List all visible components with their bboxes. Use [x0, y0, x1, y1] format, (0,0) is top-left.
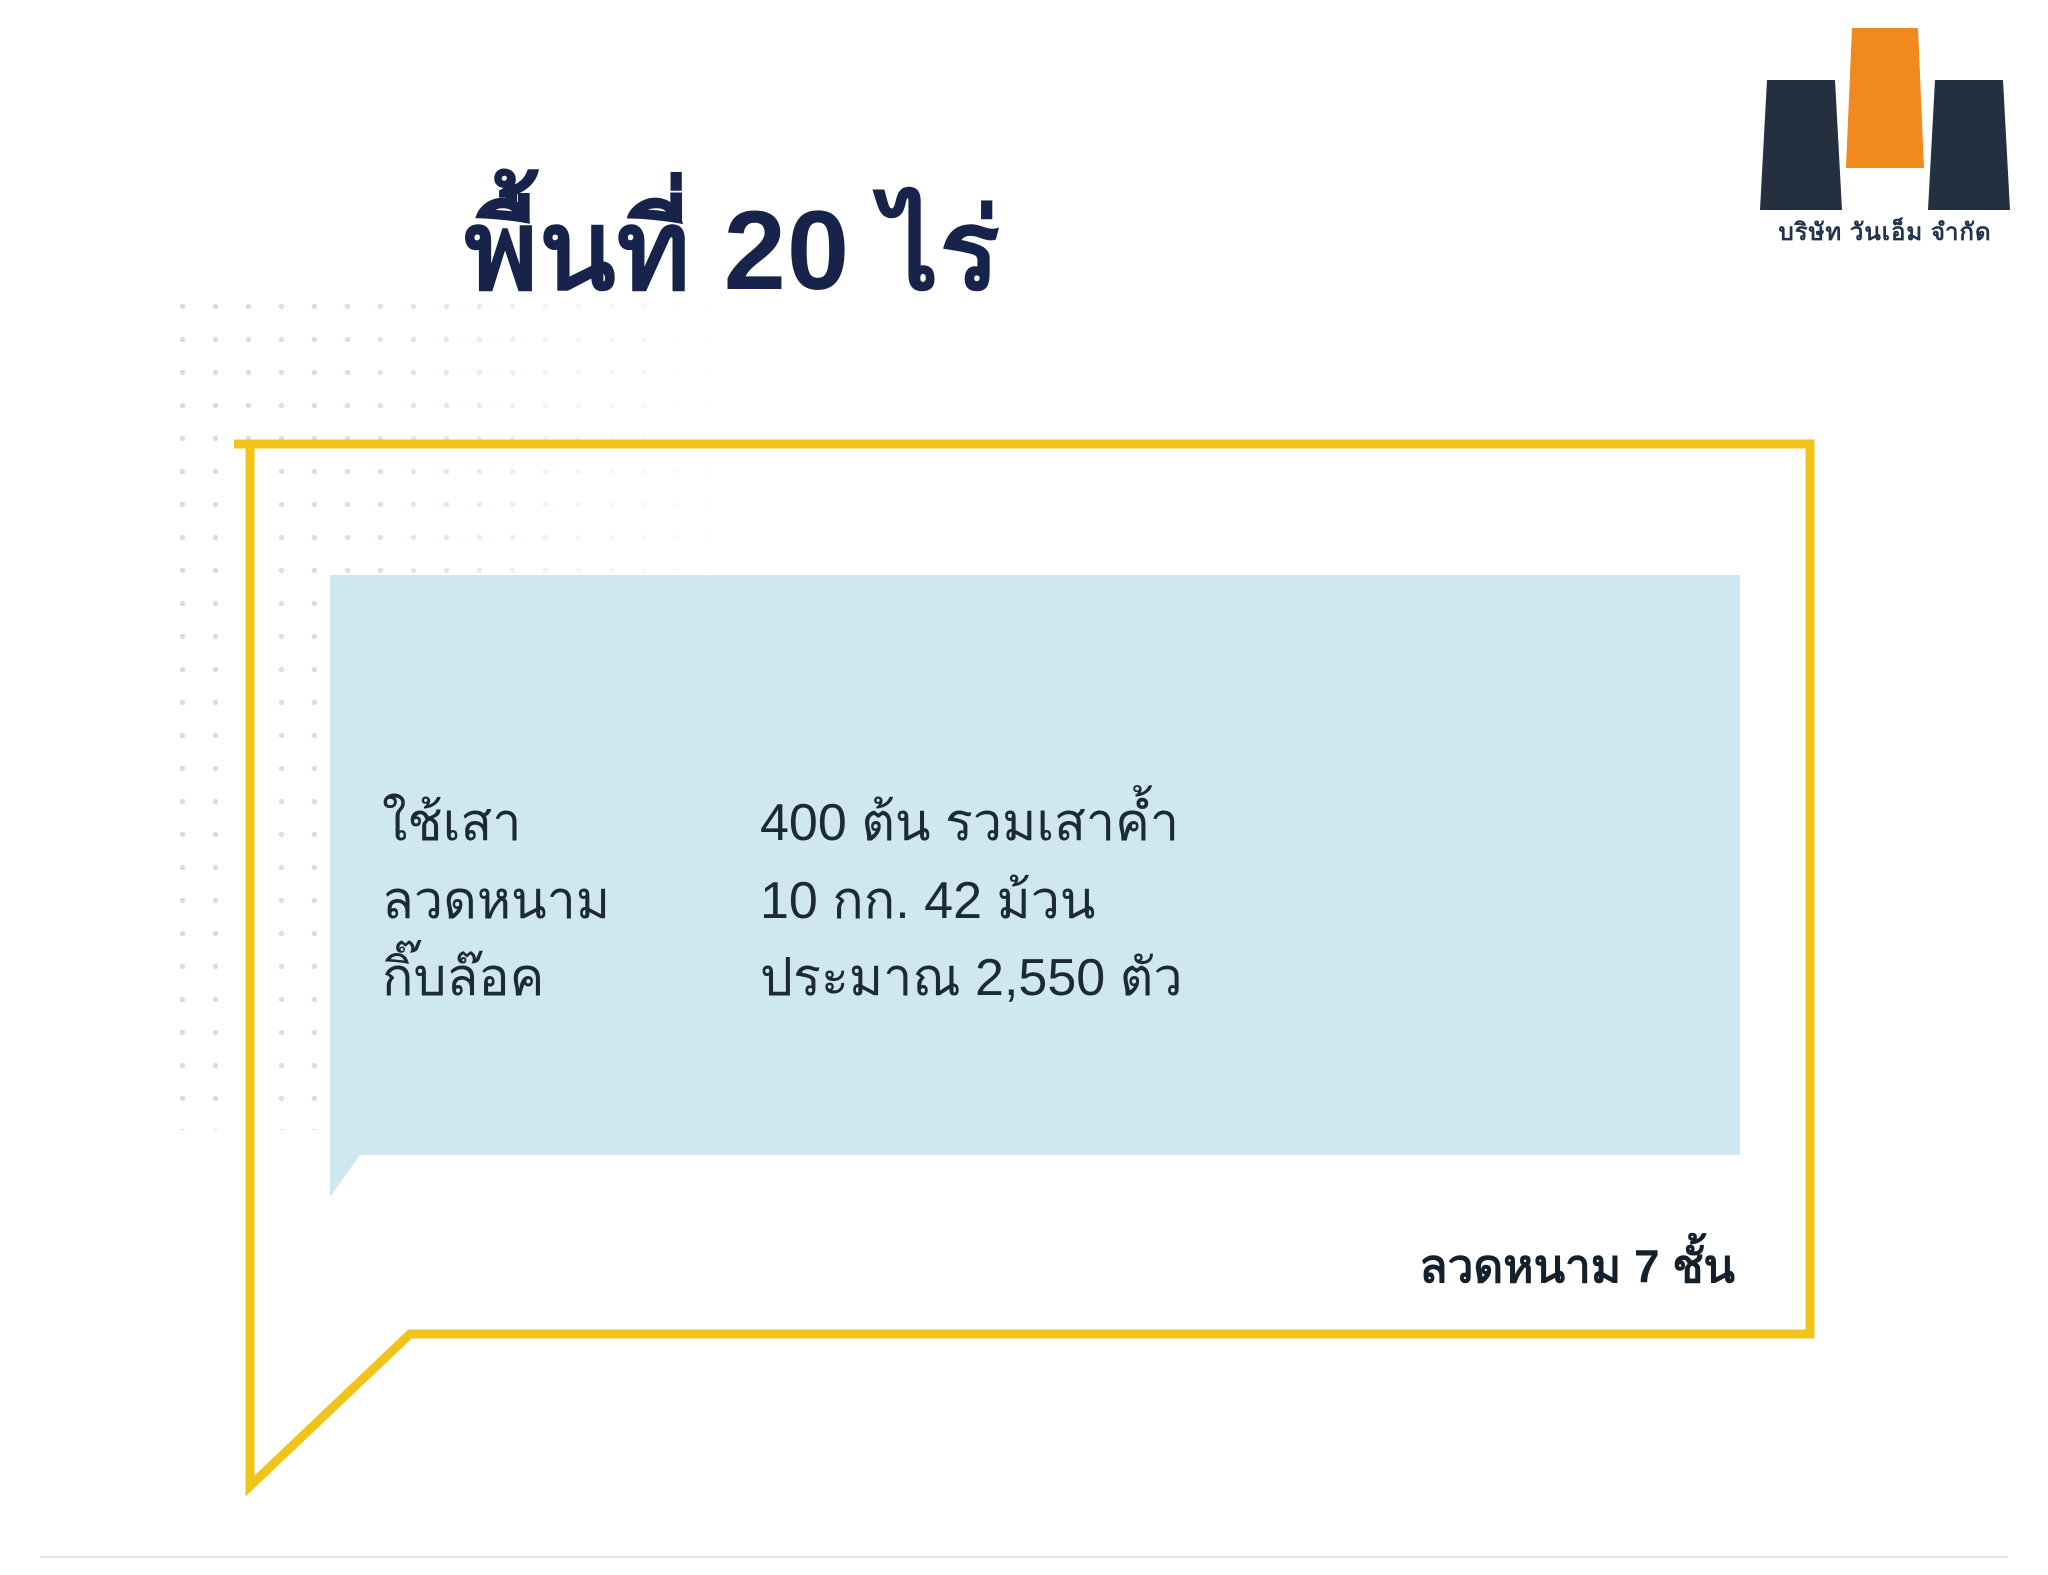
logo-pillar-right-icon [1928, 80, 2010, 210]
spec-label-clips: กิ๊บล๊อค [382, 945, 760, 1013]
spec-value-posts: 400 ต้น รวมเสาค้ำ [760, 790, 1183, 858]
logo-pillar-center-icon [1846, 28, 1924, 168]
spec-label-posts: ใช้เสา [382, 790, 760, 858]
bottom-divider [40, 1556, 2008, 1558]
spec-value-clips: ประมาณ 2,550 ตัว [760, 945, 1183, 1013]
logo-mark-icon [1760, 30, 2010, 210]
company-logo: บริษัท วันเอ็ม จำกัด [1760, 30, 2010, 260]
spec-label-barbed-wire: ลวดหนาม [382, 868, 760, 936]
logo-pillar-left-icon [1760, 80, 1842, 210]
specification-list: ใช้เสา 400 ต้น รวมเสาค้ำ ลวดหนาม 10 กก. … [382, 790, 1183, 1013]
spec-value-barbed-wire: 10 กก. 42 ม้วน [760, 868, 1183, 936]
logo-caption: บริษัท วันเอ็ม จำกัด [1760, 212, 2010, 251]
wire-layer-caption: ลวดหนาม 7 ชั้น [0, 1230, 1735, 1303]
slide-canvas: บริษัท วันเอ็ม จำกัด พื้นที่ 20 ไร่ ใช้เ… [0, 0, 2048, 1575]
